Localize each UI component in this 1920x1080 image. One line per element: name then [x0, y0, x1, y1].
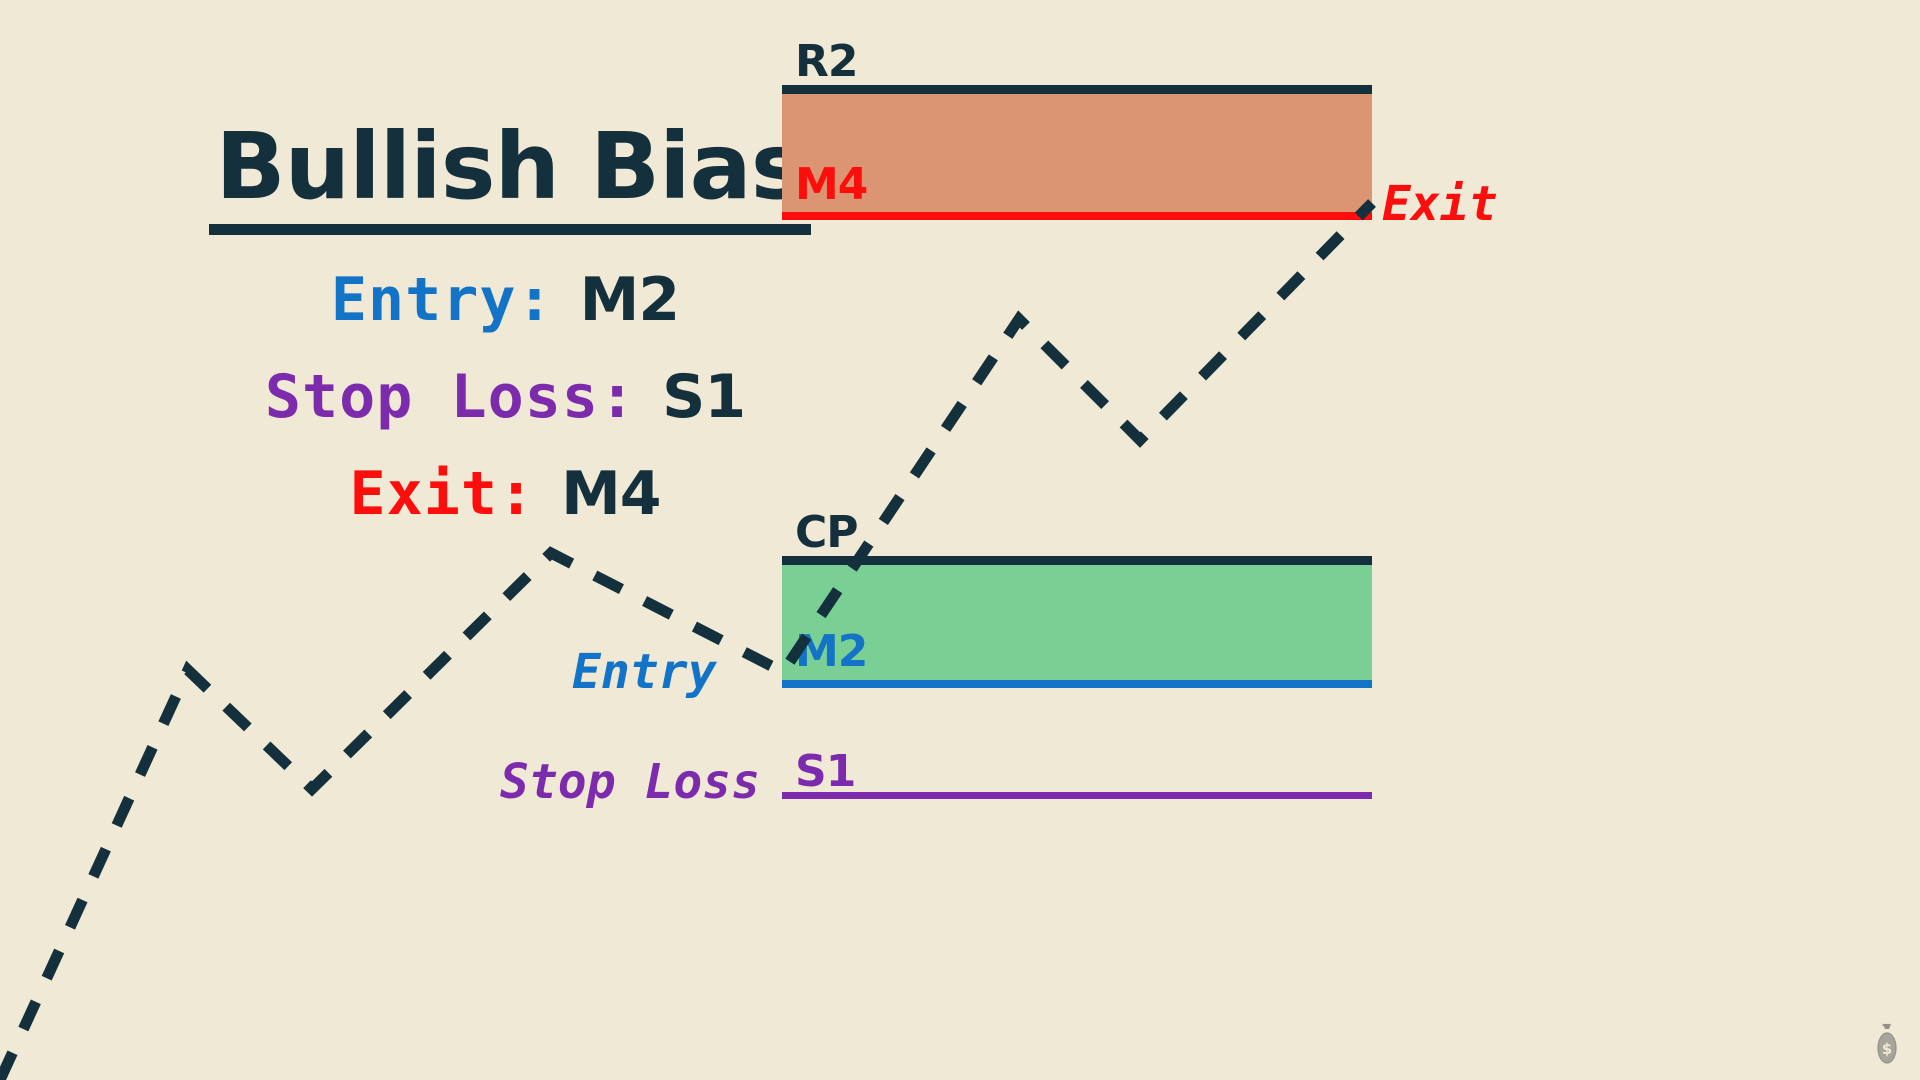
slide-canvas: Bullish Bias Entry:M2 Stop Loss:S1 Exit:… — [0, 0, 1920, 1080]
level-label-m2: M2 — [795, 630, 867, 674]
level-label-m4: M4 — [795, 163, 867, 207]
callout-exit: Exit — [1382, 180, 1498, 228]
level-label-s1: S1 — [795, 750, 855, 794]
price-chart: R2 M4 CP M2 S1 Exit Entry Stop Loss $ — [0, 0, 1920, 1080]
resistance-zone-box — [782, 85, 1372, 220]
level-label-r2: R2 — [795, 40, 858, 84]
money-bag-icon: $ — [1870, 1022, 1904, 1066]
svg-text:$: $ — [1882, 1040, 1892, 1058]
support-zone-box — [782, 556, 1372, 688]
level-label-cp: CP — [795, 511, 858, 555]
callout-stop-loss: Stop Loss — [500, 758, 760, 806]
s1-level-line — [782, 792, 1372, 799]
callout-entry: Entry — [572, 648, 717, 696]
